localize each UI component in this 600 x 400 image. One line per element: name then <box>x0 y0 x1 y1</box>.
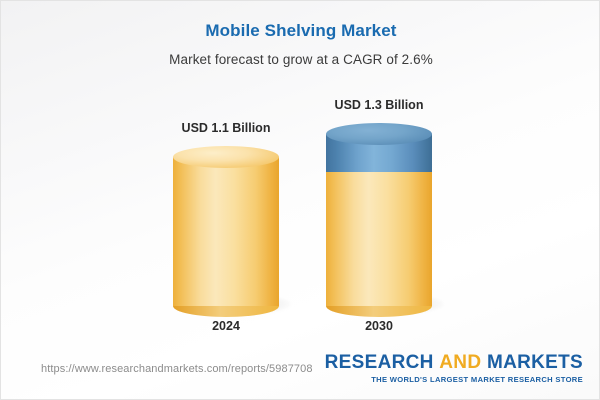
bar-segment-base-2030[interactable] <box>326 161 432 317</box>
bar-segment-base-2024[interactable] <box>173 146 279 317</box>
bar-value-label-2024: USD 1.1 Billion <box>126 121 326 135</box>
bar-segment-growth-2030[interactable] <box>326 123 432 183</box>
logo-word-markets: MARKETS <box>487 352 583 373</box>
bar-top-ellipse-2024 <box>173 146 279 168</box>
bar-category-label-2030: 2030 <box>279 319 479 333</box>
logo-word-research: RESEARCH <box>325 352 434 373</box>
bar-group-2024: USD 1.1 Billion 2024 <box>173 1 279 346</box>
footer: https://www.researchandmarkets.com/repor… <box>1 346 600 400</box>
bar-group-2030: USD 1.3 Billion 2030 <box>326 1 432 346</box>
chart-plot-area: USD 1.1 Billion 2024 USD 1.3 Billion <box>1 1 600 346</box>
chart-canvas: Mobile Shelving Market Market forecast t… <box>0 0 600 400</box>
logo-wordmark: RESEARCH AND MARKETS <box>325 353 583 373</box>
bar-growth-top-ellipse-2030 <box>326 123 432 145</box>
logo-word-and: AND <box>439 352 481 373</box>
logo-tagline: THE WORLD'S LARGEST MARKET RESEARCH STOR… <box>325 375 583 384</box>
bar-body-2024 <box>173 157 279 306</box>
bar-value-label-2030: USD 1.3 Billion <box>279 98 479 112</box>
research-and-markets-logo[interactable]: RESEARCH AND MARKETS THE WORLD'S LARGEST… <box>325 353 583 384</box>
report-url-link[interactable]: https://www.researchandmarkets.com/repor… <box>41 363 313 375</box>
